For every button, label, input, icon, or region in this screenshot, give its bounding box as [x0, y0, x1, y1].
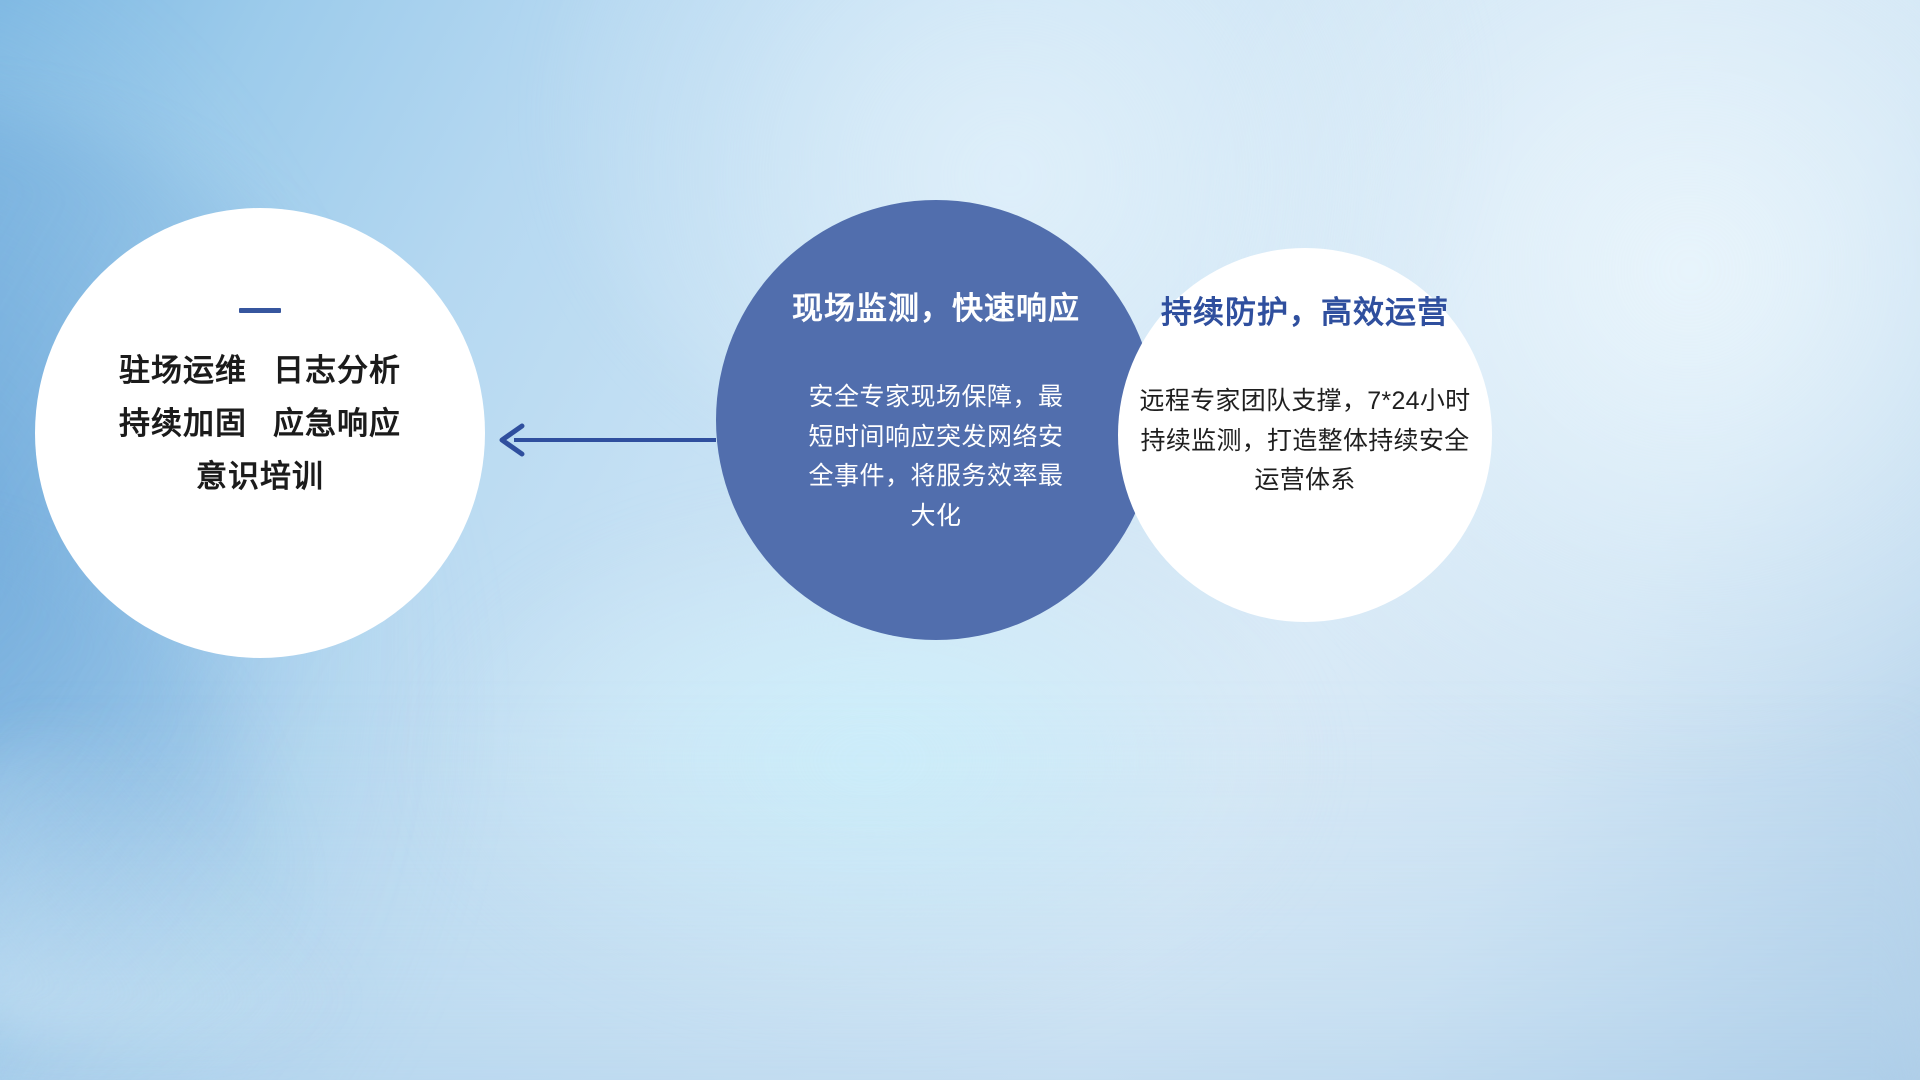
continuous-protection-circle[interactable]: 持续防护，高效运营 远程专家团队支撑，7*24小时持续监测，打造整体持续安全运营… [1118, 248, 1492, 622]
service-tag: 持续加固 [119, 406, 247, 441]
service-tag: 日志分析 [273, 353, 401, 388]
divider-dash [239, 308, 281, 313]
continuous-protection-title: 持续防护，高效运营 [1161, 296, 1449, 330]
service-tag: 应急响应 [273, 406, 401, 441]
service-list: 驻场运维日志分析 持续加固应急响应 意识培训 [119, 355, 401, 492]
onsite-monitoring-circle[interactable]: 现场监测，快速响应 安全专家现场保障，最短时间响应突发网络安全事件，将服务效率最… [716, 200, 1156, 640]
onsite-monitoring-title: 现场监测，快速响应 [792, 292, 1080, 326]
continuous-protection-body: 远程专家团队支撑，7*24小时持续监测，打造整体持续安全运营体系 [1135, 382, 1475, 501]
service-tag: 驻场运维 [119, 353, 247, 388]
onsite-monitoring-body: 安全专家现场保障，最短时间响应突发网络安全事件，将服务效率最大化 [796, 378, 1076, 536]
list-item: 意识培训 [196, 461, 324, 492]
flow-arrow-left [488, 418, 718, 462]
list-item: 持续加固应急响应 [119, 408, 401, 439]
service-tag: 意识培训 [196, 459, 324, 494]
on-site-services-circle[interactable]: 驻场运维日志分析 持续加固应急响应 意识培训 [35, 208, 485, 658]
slide-canvas: 现场监测，快速响应 安全专家现场保障，最短时间响应突发网络安全事件，将服务效率最… [0, 0, 1920, 1080]
list-item: 驻场运维日志分析 [119, 355, 401, 386]
